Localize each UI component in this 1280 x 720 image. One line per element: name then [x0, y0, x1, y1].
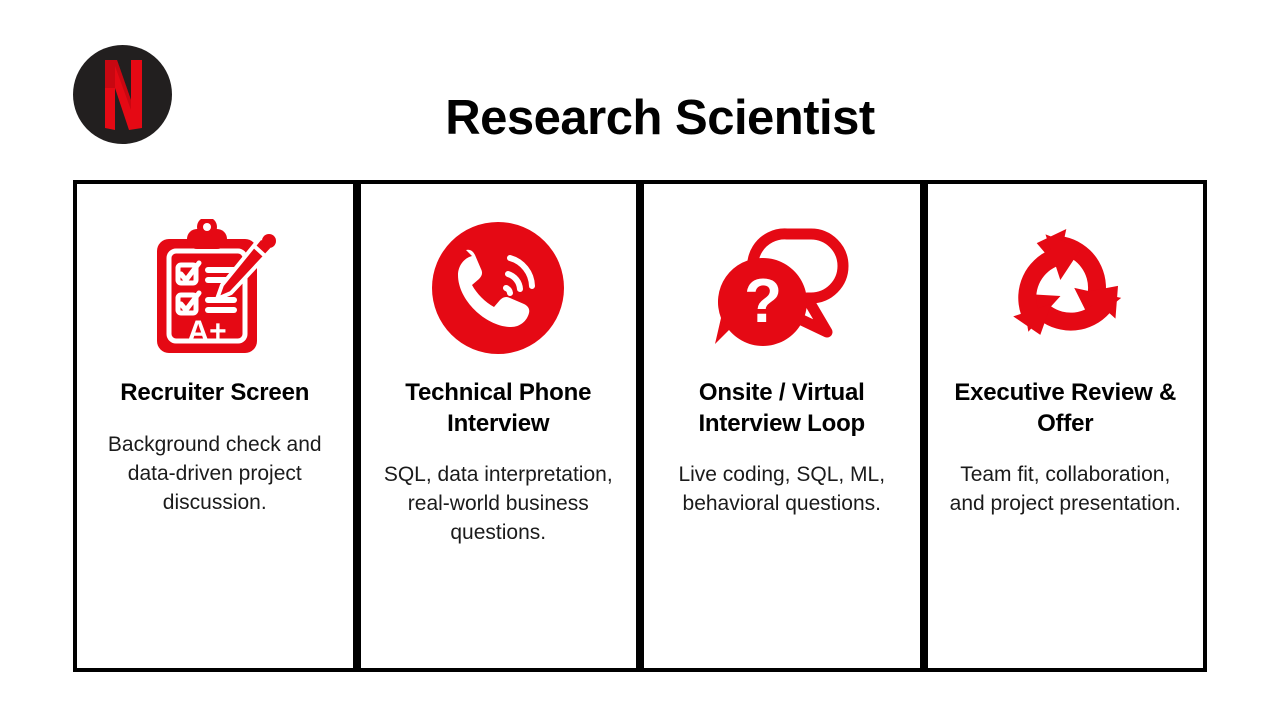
question-speech-bubbles-icon: ? [707, 208, 857, 368]
card-title: Recruiter Screen [120, 378, 309, 409]
card-title: Executive Review & Offer [942, 378, 1190, 439]
phone-call-icon [432, 208, 564, 368]
card-onsite-virtual-interview-loop[interactable]: ? Onsite / Virtual Interview Loop Live c… [644, 184, 920, 668]
stage-cards-container: A+ Recruiter Screen Background check and… [73, 180, 1207, 672]
card-description: Team fit, collaboration, and project pre… [949, 461, 1181, 519]
circular-arrows-cycle-icon [994, 208, 1136, 368]
card-title: Technical Phone Interview [375, 378, 623, 439]
card-description: Live coding, SQL, ML, behavioral questio… [666, 461, 898, 519]
card-recruiter-screen[interactable]: A+ Recruiter Screen Background check and… [77, 184, 353, 668]
card-executive-review-offer[interactable]: Executive Review & Offer Team fit, colla… [928, 184, 1204, 668]
netflix-n-glyph [95, 58, 151, 132]
card-title: Onsite / Virtual Interview Loop [658, 378, 906, 439]
clipboard-checklist-pencil-icon: A+ [151, 208, 279, 368]
netflix-logo [73, 45, 172, 144]
card-technical-phone-interview[interactable]: Technical Phone Interview SQL, data inte… [361, 184, 637, 668]
card-description: Background check and data-driven project… [99, 431, 331, 518]
page-title: Research Scientist [200, 92, 1120, 146]
slide-root: Research Scientist [0, 0, 1280, 720]
card-description: SQL, data interpretation, real-world bus… [382, 461, 614, 548]
svg-text:?: ? [744, 267, 782, 336]
svg-text:A+: A+ [187, 315, 226, 348]
slide-header: Research Scientist [0, 0, 1280, 180]
